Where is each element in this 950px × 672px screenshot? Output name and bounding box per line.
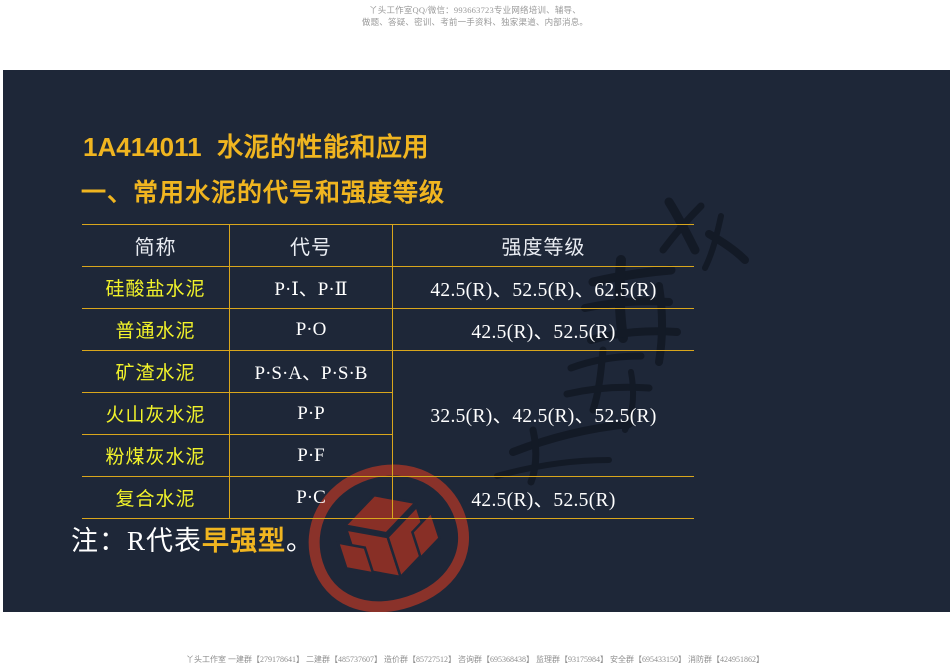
page-title-text: 水泥的性能和应用	[217, 132, 429, 162]
slide-canvas: 1A414011 水泥的性能和应用 一、常用水泥的代号和强度等级 简称 代号 强…	[3, 70, 950, 612]
page-title-code: 1A414011	[83, 132, 202, 162]
note-middle: R代表	[127, 526, 202, 556]
cell-grade: 42.5(R)、52.5(R)	[393, 477, 695, 519]
table-row: 复合水泥 P·C 42.5(R)、52.5(R)	[82, 477, 694, 519]
table-row: 矿渣水泥 P·S·A、P·S·B 32.5(R)、42.5(R)、52.5(R)	[82, 351, 694, 393]
table-row: 普通水泥 P·O 42.5(R)、52.5(R)	[82, 309, 694, 351]
cell-code: P·O	[230, 309, 393, 351]
cell-grade: 42.5(R)、52.5(R)	[393, 309, 695, 351]
cell-code: P·S·A、P·S·B	[230, 351, 393, 393]
note-line: 注：R代表早强型。	[71, 519, 314, 558]
cell-grade: 42.5(R)、52.5(R)、62.5(R)	[393, 267, 695, 309]
cell-code: P·Ⅰ、P·Ⅱ	[230, 267, 393, 309]
note-suffix: 。	[286, 526, 314, 556]
cell-name: 复合水泥	[82, 477, 230, 519]
cell-code: P·P	[230, 393, 393, 435]
cell-name: 火山灰水泥	[82, 393, 230, 435]
table-header-row: 简称 代号 强度等级	[82, 225, 694, 267]
cell-code: P·F	[230, 435, 393, 477]
studio-header-line2: 做题、答疑、密训、考前一手资料、独家渠道、内部消息。	[0, 17, 950, 29]
studio-header: 丫头工作室QQ/微信：993663723专业网络培训、辅导、 做题、答疑、密训、…	[0, 0, 950, 28]
column-header-name: 简称	[82, 225, 230, 267]
cell-code: P·C	[230, 477, 393, 519]
cell-grade-merged: 32.5(R)、42.5(R)、52.5(R)	[393, 351, 695, 477]
cell-name: 硅酸盐水泥	[82, 267, 230, 309]
section-subtitle: 一、常用水泥的代号和强度等级	[81, 173, 445, 209]
cell-name: 普通水泥	[82, 309, 230, 351]
table-row: 硅酸盐水泥 P·Ⅰ、P·Ⅱ 42.5(R)、52.5(R)、62.5(R)	[82, 267, 694, 309]
studio-footer: 丫头工作室 一建群【279178641】 二建群【485737607】 造价群【…	[0, 654, 950, 666]
studio-header-line1: 丫头工作室QQ/微信：993663723专业网络培训、辅导、	[0, 5, 950, 17]
note-prefix: 注：	[71, 526, 127, 556]
cell-name: 粉煤灰水泥	[82, 435, 230, 477]
column-header-grade: 强度等级	[393, 225, 695, 267]
cement-table-wrapper: 简称 代号 强度等级 硅酸盐水泥 P·Ⅰ、P·Ⅱ 42.5(R)、52.5(R)…	[82, 224, 692, 519]
note-highlight: 早强型	[202, 526, 286, 556]
page-title: 1A414011 水泥的性能和应用	[83, 127, 429, 164]
column-header-code: 代号	[230, 225, 393, 267]
cell-name: 矿渣水泥	[82, 351, 230, 393]
cement-table: 简称 代号 强度等级 硅酸盐水泥 P·Ⅰ、P·Ⅱ 42.5(R)、52.5(R)…	[82, 224, 694, 519]
